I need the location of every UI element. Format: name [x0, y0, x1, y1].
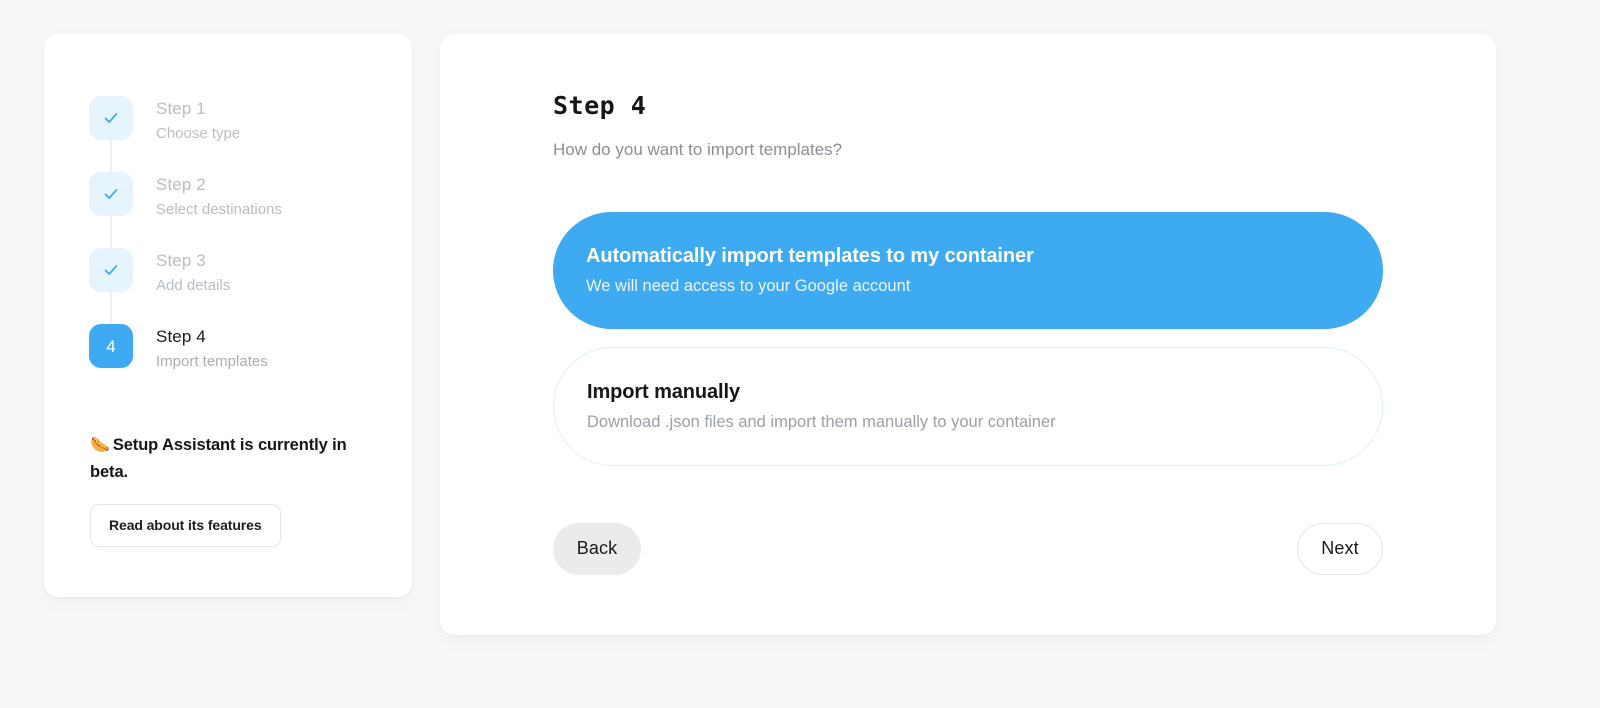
check-icon — [102, 261, 120, 279]
import-options-group: Automatically import templates to my con… — [553, 212, 1383, 466]
main-panel: Step 4 How do you want to import templat… — [440, 34, 1496, 635]
step-1-text: Step 1 Choose type — [156, 96, 240, 145]
sidebar-step-4[interactable]: 4 Step 4 Import templates — [89, 324, 389, 400]
step-3-title: Step 3 — [156, 249, 230, 273]
hotdog-icon: 🌭 — [90, 437, 110, 454]
step-progress-list: Step 1 Choose type Step 2 Select destina… — [89, 96, 389, 400]
step-connector-line — [110, 216, 112, 248]
step-4-title: Step 4 — [156, 325, 268, 349]
step-2-badge — [89, 172, 133, 216]
page-title: Step 4 — [553, 92, 1383, 120]
option-manual-import-title: Import manually — [587, 378, 1382, 406]
step-4-number: 4 — [106, 338, 115, 355]
beta-notice-text: 🌭Setup Assistant is currently in beta. — [90, 432, 380, 485]
option-manual-import-description: Download .json files and import them man… — [587, 410, 1382, 434]
check-icon — [102, 185, 120, 203]
sidebar-step-2[interactable]: Step 2 Select destinations — [89, 172, 389, 248]
option-automatic-import-description: We will need access to your Google accou… — [586, 274, 1383, 298]
sidebar-step-3[interactable]: Step 3 Add details — [89, 248, 389, 324]
step-1-subtitle: Choose type — [156, 122, 240, 145]
option-automatic-import-title: Automatically import templates to my con… — [586, 242, 1383, 270]
main-panel-content: Step 4 How do you want to import templat… — [553, 92, 1383, 575]
option-manual-import[interactable]: Import manually Download .json files and… — [553, 347, 1383, 466]
read-features-button[interactable]: Read about its features — [90, 504, 281, 547]
page-subtitle: How do you want to import templates? — [553, 138, 1383, 162]
step-connector-line — [110, 140, 112, 172]
setup-assistant-screen: Step 1 Choose type Step 2 Select destina… — [0, 0, 1600, 708]
step-4-subtitle: Import templates — [156, 350, 268, 373]
step-connector-line — [110, 292, 112, 324]
sidebar-panel: Step 1 Choose type Step 2 Select destina… — [44, 34, 412, 597]
step-3-text: Step 3 Add details — [156, 248, 230, 297]
option-automatic-import[interactable]: Automatically import templates to my con… — [553, 212, 1383, 329]
step-2-text: Step 2 Select destinations — [156, 172, 282, 221]
step-4-badge: 4 — [89, 324, 133, 368]
beta-notice: 🌭Setup Assistant is currently in beta. R… — [90, 432, 380, 547]
beta-notice-message: Setup Assistant is currently in beta. — [90, 436, 347, 481]
back-button[interactable]: Back — [553, 523, 641, 575]
check-icon — [102, 109, 120, 127]
step-1-title: Step 1 — [156, 97, 240, 121]
wizard-footer: Back Next — [553, 523, 1383, 575]
step-3-subtitle: Add details — [156, 274, 230, 297]
step-1-badge — [89, 96, 133, 140]
next-button[interactable]: Next — [1297, 523, 1383, 575]
step-3-badge — [89, 248, 133, 292]
step-2-title: Step 2 — [156, 173, 282, 197]
step-2-subtitle: Select destinations — [156, 198, 282, 221]
sidebar-step-1[interactable]: Step 1 Choose type — [89, 96, 389, 172]
step-4-text: Step 4 Import templates — [156, 324, 268, 373]
